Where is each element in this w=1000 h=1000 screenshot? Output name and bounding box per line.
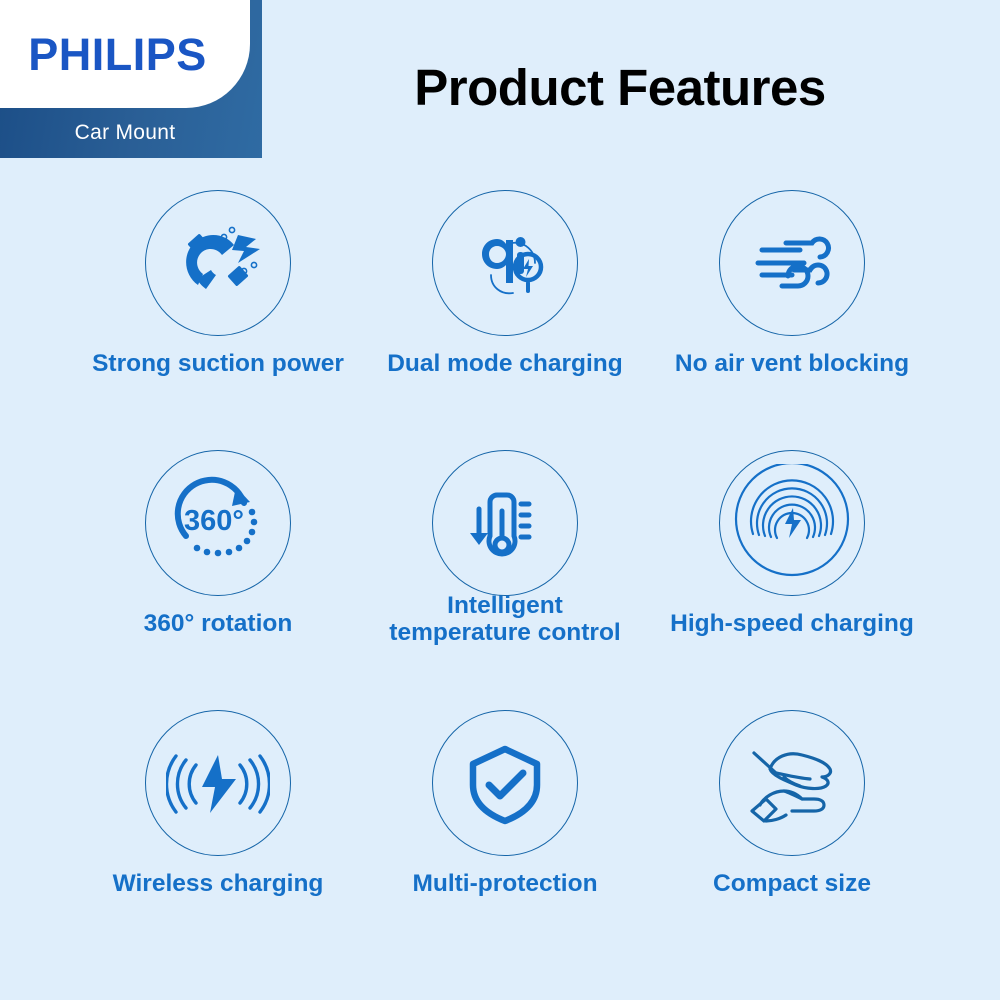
- wireless-charging-icon: [145, 710, 291, 856]
- feature-item-intelligent-temperature-control: Intelligenttemperature control: [357, 450, 653, 700]
- rotation-360-icon: 360°: [145, 450, 291, 596]
- feature-label: Compact size: [644, 870, 940, 897]
- feature-row: Wireless charging Multi-protection: [55, 710, 945, 960]
- fast-charging-waves-icon: [719, 450, 865, 596]
- feature-label-line-2: temperature control: [389, 619, 620, 646]
- feature-label: Wireless charging: [70, 870, 366, 897]
- feature-item-360-rotation: 360° 360° rotation: [70, 450, 366, 700]
- feature-label: High-speed charging: [644, 610, 940, 637]
- feature-grid: Strong suction power Dual mode charging: [55, 190, 945, 950]
- feature-item-wireless-charging: Wireless charging: [70, 710, 366, 960]
- feature-item-high-speed-charging: High-speed charging: [644, 450, 940, 700]
- philips-wordmark: PHILIPS: [0, 0, 235, 108]
- page-title: Product Features: [300, 62, 940, 113]
- feature-label: No air vent blocking: [644, 350, 940, 377]
- brand-logo-block: PHILIPS Car Mount: [0, 0, 262, 158]
- feature-label: Intelligenttemperature control: [357, 592, 653, 647]
- feature-item-strong-suction-power: Strong suction power: [70, 190, 366, 440]
- shield-check-icon: [432, 710, 578, 856]
- feature-label-line-1: Intelligent: [447, 592, 563, 619]
- feature-label: Multi-protection: [357, 870, 653, 897]
- wind-airflow-icon: [719, 190, 865, 336]
- feature-label: 360° rotation: [70, 610, 366, 637]
- feature-item-dual-mode-charging: Dual mode charging: [357, 190, 653, 440]
- feature-item-multi-protection: Multi-protection: [357, 710, 653, 960]
- magnet-icon: [145, 190, 291, 336]
- feature-row: Strong suction power Dual mode charging: [55, 190, 945, 440]
- feature-item-no-air-vent-blocking: No air vent blocking: [644, 190, 940, 440]
- icon-360-text: 360°: [184, 505, 244, 537]
- feature-row: 360° 360° rotation: [55, 450, 945, 700]
- thermometer-icon: [432, 450, 578, 596]
- feature-label: Dual mode charging: [357, 350, 653, 377]
- feature-label: Strong suction power: [70, 350, 366, 377]
- feather-hand-icon: [719, 710, 865, 856]
- qi-dual-charging-icon: [432, 190, 578, 336]
- brand-sub-label: Car Mount: [0, 108, 250, 158]
- feature-item-compact-size: Compact size: [644, 710, 940, 960]
